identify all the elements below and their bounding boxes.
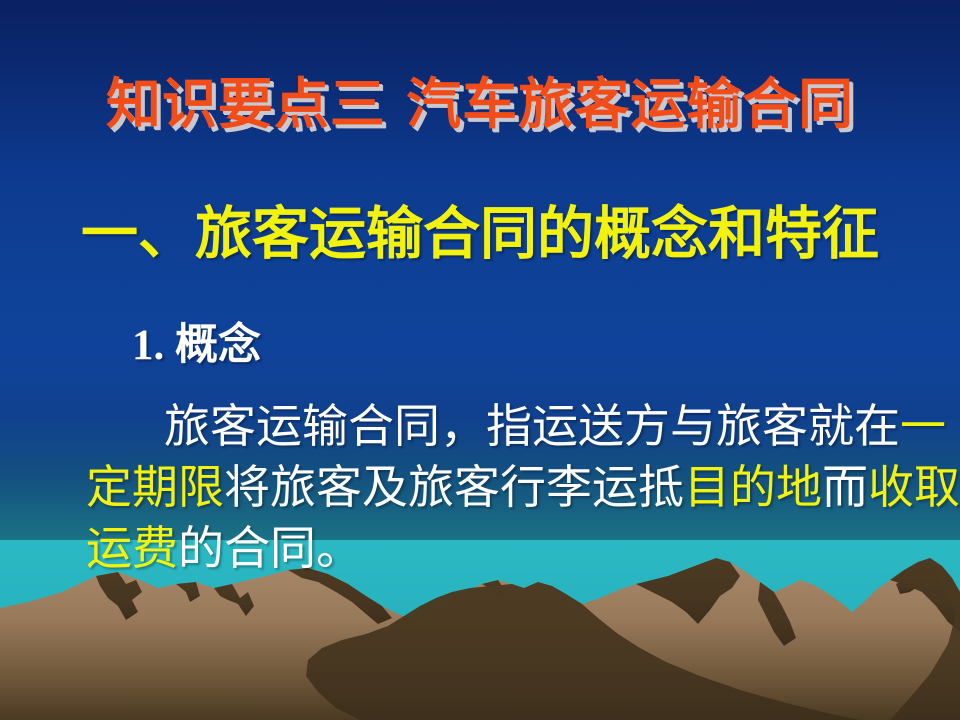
body-paragraph: 旅客运输合同，指运送方与旅客就在一 定期限将旅客及旅客行李运抵目的地而收取 运费… xyxy=(86,396,936,579)
body-highlight-segment: 运费 xyxy=(86,523,178,574)
body-highlight-segment: 一 xyxy=(900,401,946,452)
body-text-segment: 旅客运输合同，指运送方与旅客就在 xyxy=(164,401,900,452)
body-text-segment: 而 xyxy=(822,462,868,513)
body-line-2: 定期限将旅客及旅客行李运抵目的地而收取 xyxy=(86,457,936,518)
body-highlight-segment: 目的地 xyxy=(684,462,822,513)
slide-title: 知识要点三 汽车旅客运输合同 xyxy=(0,72,960,136)
body-text-segment: 的合同。 xyxy=(178,523,362,574)
body-text-segment: 将旅客及旅客行李运抵 xyxy=(224,462,684,513)
section-heading: 一、旅客运输合同的概念和特征 xyxy=(0,202,960,268)
body-highlight-segment: 定期限 xyxy=(86,462,224,513)
sub-heading-concept: 1. 概念 xyxy=(132,320,261,372)
body-highlight-segment: 收取 xyxy=(868,462,960,513)
slide-canvas: 知识要点三 汽车旅客运输合同 一、旅客运输合同的概念和特征 1. 概念 旅客运输… xyxy=(0,0,960,720)
body-line-1: 旅客运输合同，指运送方与旅客就在一 xyxy=(86,396,936,457)
body-line-3: 运费的合同。 xyxy=(86,518,936,579)
